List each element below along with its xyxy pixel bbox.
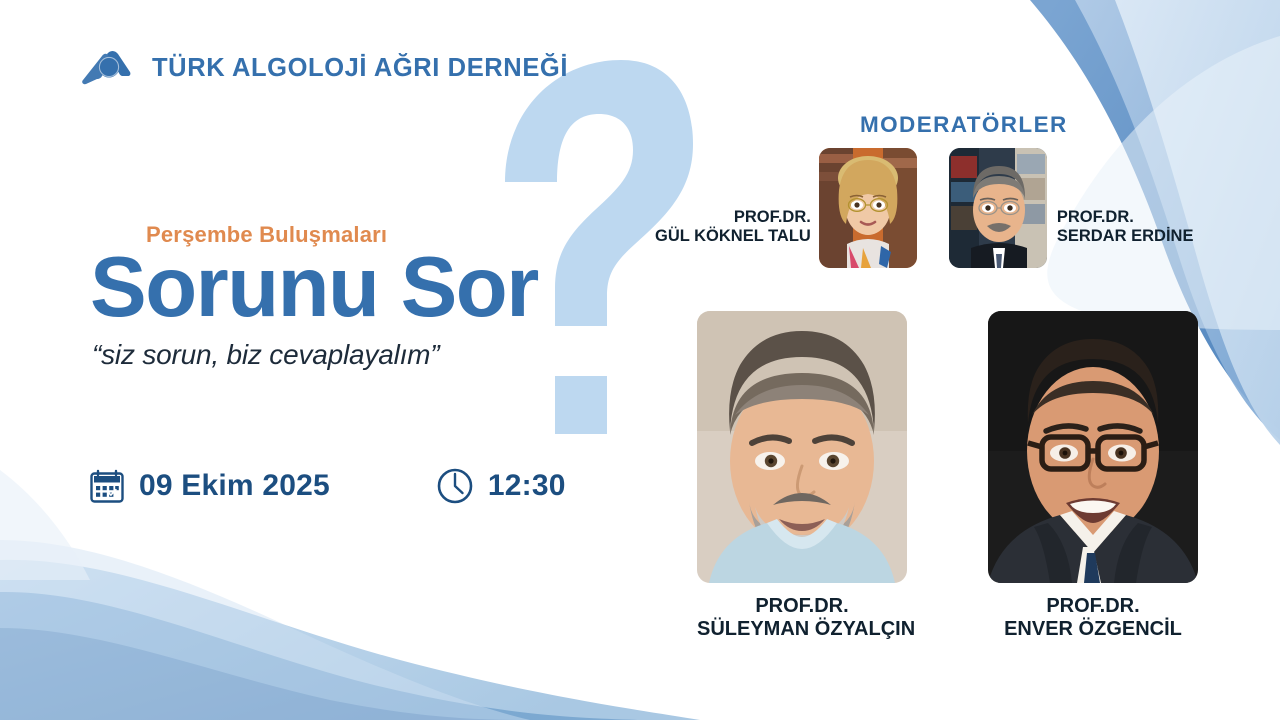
moderator-fullname-1: GÜL KÖKNEL TALU — [655, 227, 811, 246]
moderators-heading: MODERATÖRLER — [860, 112, 1235, 138]
moderator-card-2: PROF.DR. SERDAR ERDİNE — [949, 148, 1194, 268]
moderator-photo-1 — [819, 148, 917, 268]
event-time-text: 12:30 — [488, 469, 566, 503]
speaker-fullname-1: SÜLEYMAN ÖZYALÇIN — [697, 618, 907, 641]
algology-logo-icon — [80, 48, 142, 88]
page-title: Sorunu Sor — [90, 249, 538, 327]
headline-block: Perşembe Buluşmaları Sorunu Sor “siz sor… — [88, 222, 538, 371]
event-date: 09 Ekim 2025 — [88, 467, 330, 505]
speaker-fullname-2: ENVER ÖZGENCİL — [988, 618, 1198, 641]
moderators-row: PROF.DR. GÜL KÖKNEL TALU — [655, 148, 1235, 268]
moderator-fullname-2: SERDAR ERDİNE — [1057, 227, 1194, 246]
moderator-title-2: PROF.DR. — [1057, 208, 1194, 227]
event-date-text: 09 Ekim 2025 — [139, 469, 330, 503]
speaker-card-1: PROF.DR. SÜLEYMAN ÖZYALÇIN — [697, 311, 907, 641]
moderator-name-2: PROF.DR. SERDAR ERDİNE — [1057, 208, 1194, 268]
poster-canvas: TÜRK ALGOLOJİ AĞRI DERNEĞİ Perşembe Bulu… — [0, 0, 1280, 720]
speaker-name-1: PROF.DR. SÜLEYMAN ÖZYALÇIN — [697, 595, 907, 641]
speaker-photo-1 — [697, 311, 907, 583]
speaker-title-1: PROF.DR. — [697, 595, 907, 618]
event-meta: 09 Ekim 2025 12:30 — [88, 466, 566, 506]
speaker-photo-2 — [988, 311, 1198, 583]
moderators-section: MODERATÖRLER PROF.DR. GÜL KÖKNEL TALU — [655, 112, 1235, 268]
clock-icon — [435, 466, 475, 506]
speakers-section: PROF.DR. SÜLEYMAN ÖZYALÇIN — [697, 311, 1198, 641]
speaker-card-2: PROF.DR. ENVER ÖZGENCİL — [988, 311, 1198, 641]
tagline: “siz sorun, biz cevaplayalım” — [92, 339, 538, 371]
moderator-title-1: PROF.DR. — [655, 208, 811, 227]
moderator-photo-2 — [949, 148, 1047, 268]
speaker-name-2: PROF.DR. ENVER ÖZGENCİL — [988, 595, 1198, 641]
event-time: 12:30 — [435, 466, 566, 506]
calendar-icon — [88, 467, 126, 505]
moderator-name-1: PROF.DR. GÜL KÖKNEL TALU — [655, 208, 811, 268]
speaker-title-2: PROF.DR. — [988, 595, 1198, 618]
brand-name: TÜRK ALGOLOJİ AĞRI DERNEĞİ — [152, 54, 568, 83]
brand-logo: TÜRK ALGOLOJİ AĞRI DERNEĞİ — [80, 48, 568, 88]
moderator-card-1: PROF.DR. GÜL KÖKNEL TALU — [655, 148, 917, 268]
